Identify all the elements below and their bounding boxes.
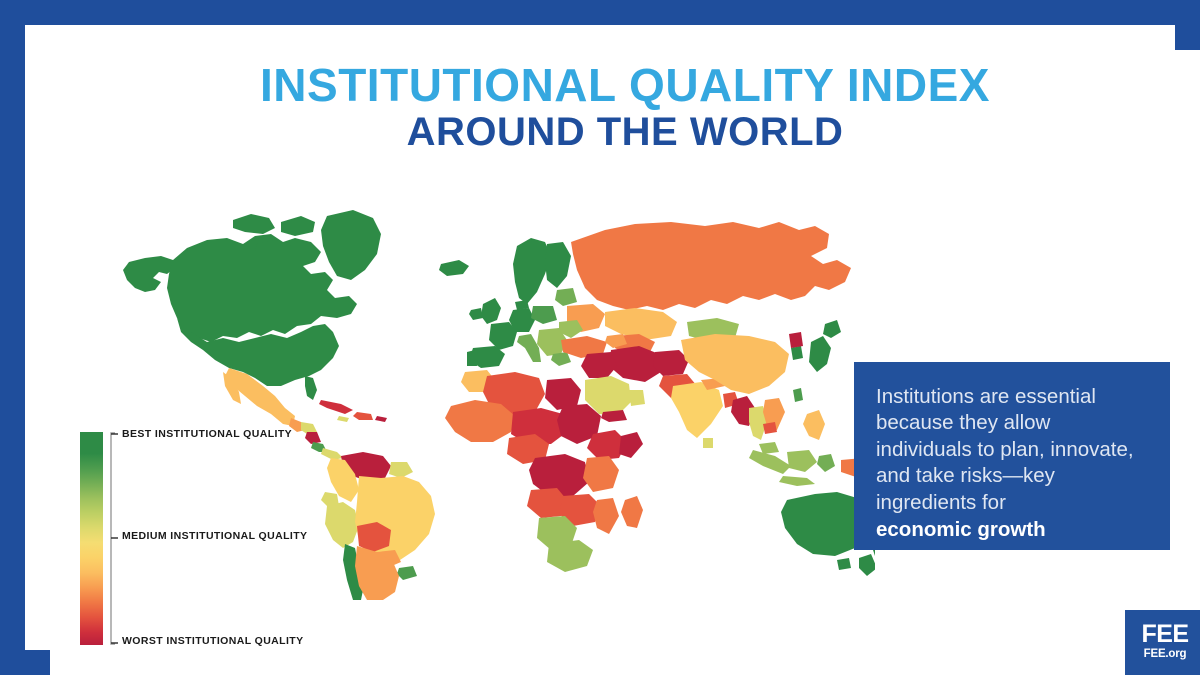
slide-frame: INSTITUTIONAL QUALITY INDEX AROUND THE W… <box>0 0 1200 675</box>
region-poland <box>531 306 557 324</box>
region-baltics <box>555 288 577 306</box>
region-cambodia <box>763 422 777 434</box>
region-borneo <box>787 450 817 472</box>
region-iceland <box>439 260 469 276</box>
region-somalia <box>619 432 643 458</box>
region-sri-lanka <box>703 438 713 448</box>
region-canada-arctic-2 <box>281 216 315 236</box>
region-uruguay <box>397 566 417 580</box>
region-sulawesi <box>817 454 835 472</box>
callout-box: Institutions are essential because they … <box>854 362 1170 550</box>
title-line-secondary: AROUND THE WORLD <box>50 111 1200 154</box>
region-iran <box>609 346 661 382</box>
region-united-kingdom <box>481 298 501 324</box>
fee-logo-url: FEE.org <box>1125 649 1200 661</box>
region-jamaica <box>337 416 349 422</box>
region-south-korea <box>791 346 803 360</box>
legend-label-medium: MEDIUM INSTITUTIONAL QUALITY <box>122 530 307 543</box>
region-alaska <box>123 256 175 292</box>
region-italy <box>517 334 541 362</box>
region-indonesia-sumatra <box>749 450 791 474</box>
legend-bracket-icon <box>109 432 118 645</box>
region-malaysia <box>759 442 779 454</box>
legend-label-best: BEST INSTITUTIONAL QUALITY <box>122 428 292 441</box>
legend-color-scale <box>80 432 103 645</box>
region-finland <box>545 242 571 288</box>
region-north-korea <box>789 332 803 348</box>
region-indonesia-java <box>779 476 815 486</box>
page-title: INSTITUTIONAL QUALITY INDEX AROUND THE W… <box>50 62 1200 154</box>
callout-body: Institutions are essential because they … <box>876 385 1134 514</box>
legend: BEST INSTITUTIONAL QUALITY MEDIUM INSTIT… <box>80 432 370 657</box>
region-cuba <box>319 400 353 414</box>
fee-logo[interactable]: FEE FEE.org <box>1125 610 1200 675</box>
region-india <box>671 382 723 438</box>
region-madagascar <box>621 496 643 528</box>
region-oman <box>629 390 645 406</box>
slide-canvas: INSTITUTIONAL QUALITY INDEX AROUND THE W… <box>50 50 1200 675</box>
fee-logo-mark: FEE <box>1125 622 1200 647</box>
region-ireland <box>469 308 483 320</box>
region-canada-arctic-1 <box>233 214 275 234</box>
region-japan <box>809 336 831 372</box>
region-guyanas <box>389 462 413 478</box>
region-florida <box>305 376 317 400</box>
region-tasmania <box>837 558 851 570</box>
callout-emphasis: economic growth <box>876 517 1148 543</box>
callout-text: Institutions are essential because they … <box>876 384 1148 544</box>
region-taiwan <box>793 388 803 402</box>
region-greece <box>551 352 571 366</box>
region-kenya-tanzania <box>583 456 619 492</box>
region-new-zealand-south <box>859 554 875 576</box>
region-iraq-syria <box>581 352 617 378</box>
region-japan-north <box>823 320 841 338</box>
region-norway-sweden <box>513 238 551 304</box>
region-hispaniola <box>353 412 373 420</box>
region-philippines <box>803 410 825 440</box>
legend-label-worst: WORST INSTITUTIONAL QUALITY <box>122 635 304 648</box>
region-mozambique <box>593 498 619 534</box>
region-russia <box>571 222 851 310</box>
region-puerto-rico <box>375 416 387 422</box>
title-line-primary: INSTITUTIONAL QUALITY INDEX <box>50 62 1200 109</box>
region-south-africa <box>547 540 593 572</box>
region-greenland <box>321 210 381 280</box>
